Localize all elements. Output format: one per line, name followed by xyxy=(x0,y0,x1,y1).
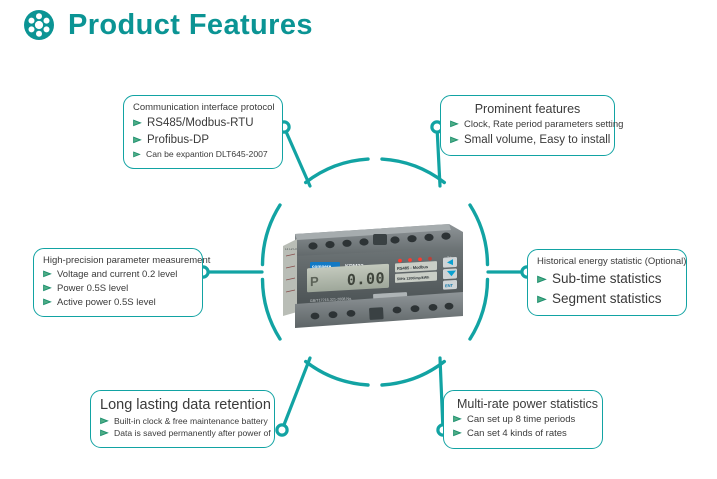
list-item: Segment statistics xyxy=(537,289,677,309)
list-item-label: RS485/Modbus-RTU xyxy=(147,115,254,132)
arrow-bullet-icon xyxy=(537,295,547,304)
arrow-bullet-icon xyxy=(100,417,109,425)
product-image: L1 L2 L3 compere KPM33 AB C⎍ T⊕ P 0.00 R… xyxy=(277,212,473,330)
connector-line-communication xyxy=(284,127,310,186)
list-item-label: Can set up 8 time periods xyxy=(467,413,575,427)
list-item: Can set up 8 time periods xyxy=(453,413,593,427)
connector-line-retention xyxy=(282,358,310,430)
list-item: Can be expantion DLT645-2007 xyxy=(133,148,273,160)
callout-header: Long lasting data retention xyxy=(100,397,265,413)
arrow-bullet-icon xyxy=(537,275,547,284)
ring-segment-top-right xyxy=(382,159,444,182)
callout-retention[interactable]: Long lasting data retention Built-in clo… xyxy=(90,390,275,448)
ring-segment-bottom-right xyxy=(382,362,444,386)
arrow-bullet-icon xyxy=(453,415,462,423)
page-header: Product Features xyxy=(22,8,313,42)
list-item-label: Data is saved permanently after power of xyxy=(114,427,271,439)
callout-header: High-precision parameter measurement xyxy=(43,255,193,266)
list-item-label: Voltage and current 0.2 level xyxy=(57,268,177,282)
arrow-bullet-icon xyxy=(43,284,52,292)
arrow-bullet-icon xyxy=(43,270,52,278)
list-item-label: Clock, Rate period parameters setting xyxy=(464,118,623,132)
arrow-bullet-icon xyxy=(100,429,109,437)
callout-prominent[interactable]: Prominent features Clock, Rate period pa… xyxy=(440,95,615,156)
callout-list: Built-in clock & free maintenance batter… xyxy=(100,415,265,440)
ring-segment-top-left xyxy=(306,159,368,182)
callout-precision[interactable]: High-precision parameter measurement Vol… xyxy=(33,248,203,317)
list-item: Clock, Rate period parameters setting xyxy=(450,118,605,132)
product-features-icon xyxy=(22,8,56,42)
list-item-label: Segment statistics xyxy=(552,289,662,309)
callout-list: Can set up 8 time periods Can set 4 kind… xyxy=(453,413,593,441)
arrow-bullet-icon xyxy=(453,429,462,437)
list-item: Data is saved permanently after power of xyxy=(100,427,265,439)
list-item-label: Built-in clock & free maintenance batter… xyxy=(114,415,268,427)
list-item: Voltage and current 0.2 level xyxy=(43,268,193,282)
callout-list: RS485/Modbus-RTU Profibus-DP Can be expa… xyxy=(133,115,273,161)
product-lcd-unit: P xyxy=(310,274,319,289)
list-item-label: Sub-time statistics xyxy=(552,269,662,289)
list-item: Can set 4 kinds of rates xyxy=(453,427,593,441)
arrow-bullet-icon xyxy=(43,298,52,306)
callout-header: Historical energy statistic (Optional) xyxy=(537,256,677,267)
arrow-bullet-icon xyxy=(133,119,142,127)
list-item: Power 0.5S level xyxy=(43,282,193,296)
connector-dot-retention xyxy=(277,425,287,435)
list-item: Built-in clock & free maintenance batter… xyxy=(100,415,265,427)
list-item-label: Small volume, Easy to install xyxy=(464,132,610,149)
callout-header: Prominent features xyxy=(450,102,605,116)
callout-header: Communication interface protocol xyxy=(133,102,273,113)
arrow-bullet-icon xyxy=(133,151,141,158)
list-item: Small volume, Easy to install xyxy=(450,132,605,149)
callout-list: Sub-time statistics Segment statistics xyxy=(537,269,677,308)
callout-list: Clock, Rate period parameters setting Sm… xyxy=(450,118,605,148)
list-item: RS485/Modbus-RTU xyxy=(133,115,273,132)
arrow-bullet-icon xyxy=(133,136,142,144)
list-item-label: Can set 4 kinds of rates xyxy=(467,427,567,441)
energy-meter-illustration: L1 L2 L3 compere KPM33 AB C⎍ T⊕ P 0.00 R… xyxy=(277,212,473,330)
svg-text:ENT: ENT xyxy=(445,283,454,288)
product-lcd-value: 0.00 xyxy=(347,269,385,289)
callout-communication[interactable]: Communication interface protocol RS485/M… xyxy=(123,95,283,169)
list-item-label: Profibus-DP xyxy=(147,132,209,149)
callout-list: Voltage and current 0.2 level Power 0.5S… xyxy=(43,268,193,309)
list-item: Profibus-DP xyxy=(133,132,273,149)
list-item: Sub-time statistics xyxy=(537,269,677,289)
ring-segment-bottom-left xyxy=(306,362,368,386)
callout-header: Multi-rate power statistics xyxy=(453,397,593,411)
arrow-bullet-icon xyxy=(450,120,459,128)
list-item-label: Power 0.5S level xyxy=(57,282,128,296)
list-item: Active power 0.5S level xyxy=(43,296,193,310)
list-item-label: Can be expantion DLT645-2007 xyxy=(146,148,268,160)
callout-history[interactable]: Historical energy statistic (Optional) S… xyxy=(527,249,687,316)
callout-multirate[interactable]: Multi-rate power statistics Can set up 8… xyxy=(443,390,603,449)
page-title: Product Features xyxy=(68,9,313,42)
arrow-bullet-icon xyxy=(450,136,459,144)
list-item-label: Active power 0.5S level xyxy=(57,296,156,310)
svg-text:L1 L2 L3: L1 L2 L3 xyxy=(285,247,297,251)
